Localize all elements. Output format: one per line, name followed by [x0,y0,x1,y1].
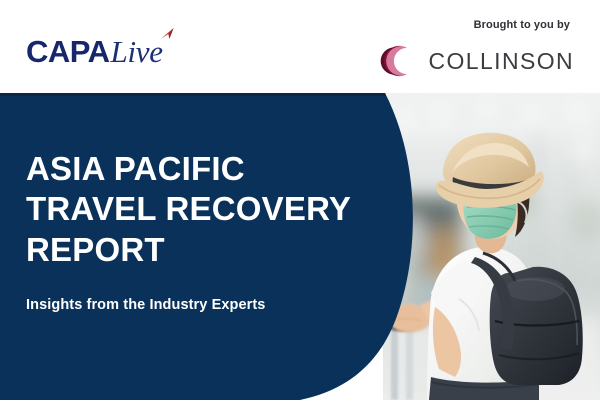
collinson-wordmark: COLLINSON [428,50,574,73]
report-cover-card: CAPA Live Brought to you by COLLINSON [0,0,600,413]
brought-to-you-by-label: Brought to you by [374,20,574,31]
capa-live-wordmark: Live [111,34,163,69]
hero-copy: ASIA PACIFIC TRAVEL RECOVERY REPORT Insi… [26,149,356,313]
capa-live-logo[interactable]: CAPA Live [26,36,163,67]
hero-section: ASIA PACIFIC TRAVEL RECOVERY REPORT Insi… [0,93,600,400]
title-line-1: ASIA PACIFIC [26,150,245,187]
sponsor-block: Brought to you by COLLINSON [374,20,574,80]
page-subtitle: Insights from the Industry Experts [26,297,356,313]
arrow-swoosh-icon [160,27,176,43]
header-bar: CAPA Live Brought to you by COLLINSON [0,0,600,93]
collinson-logo[interactable]: COLLINSON [374,42,574,80]
collinson-c-mark-icon [378,42,416,80]
title-line-3: REPORT [26,231,165,268]
capa-wordmark: CAPA [26,36,110,67]
page-title: ASIA PACIFIC TRAVEL RECOVERY REPORT [26,149,356,270]
bottom-white-strip [0,400,600,413]
title-line-2: TRAVEL RECOVERY [26,190,351,227]
